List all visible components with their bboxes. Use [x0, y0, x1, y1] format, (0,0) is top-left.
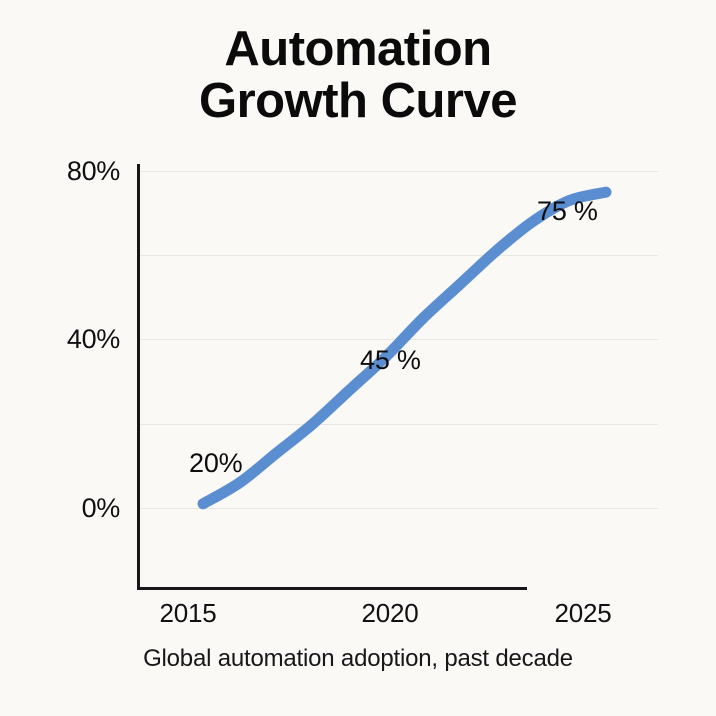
chart-caption: Global automation adoption, past decade: [0, 645, 716, 673]
chart-card: Automation Growth Curve 80% 40% 0% 2015 …: [0, 0, 716, 716]
series-line-chart: [0, 0, 716, 716]
data-label-45: 45 %: [360, 345, 421, 376]
data-label-75: 75 %: [537, 196, 598, 227]
data-label-20: 20%: [189, 448, 242, 479]
